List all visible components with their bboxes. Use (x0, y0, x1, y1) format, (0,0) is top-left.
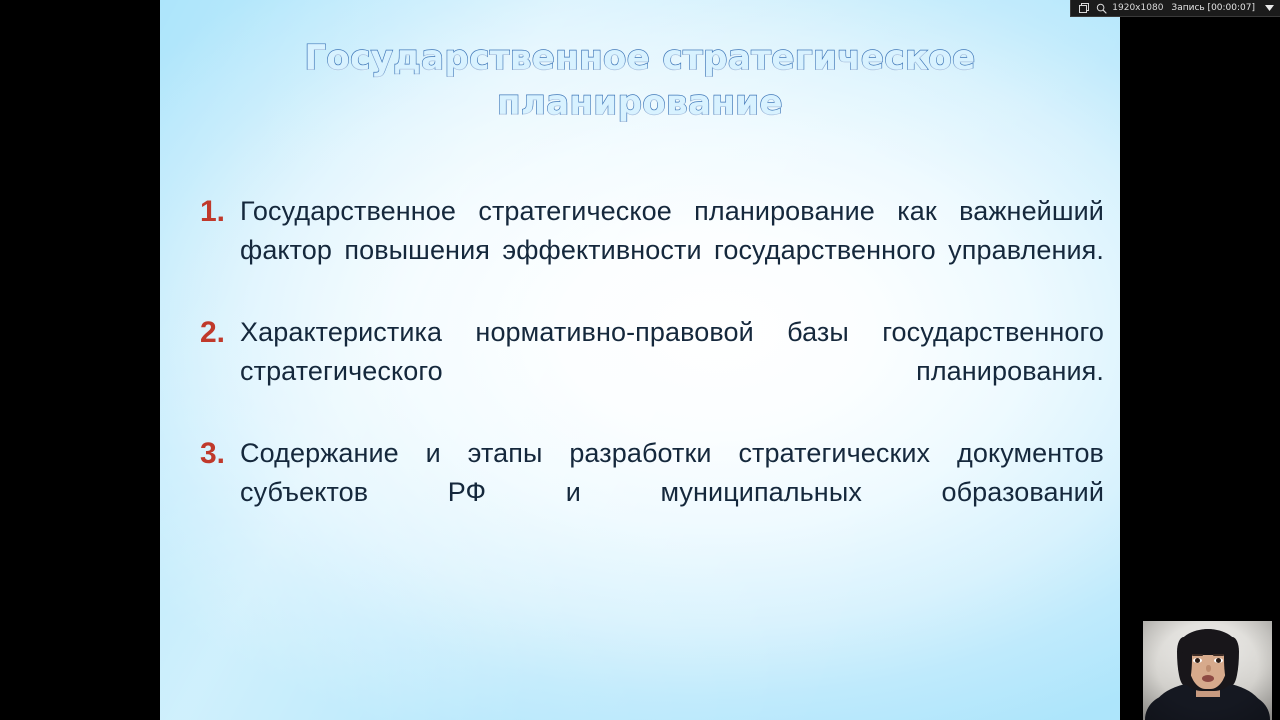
recording-status-label: Запись [00:00:07] (1169, 3, 1263, 13)
magnifier-icon[interactable] (1093, 1, 1110, 16)
presenter-eye-left (1193, 658, 1202, 663)
list-item: 2. Характеристика нормативно-правовой ба… (196, 313, 1104, 430)
list-item-text: Содержание и этапы разработки стратегиче… (240, 434, 1104, 551)
list-item: 3. Содержание и этапы разработки стратег… (196, 434, 1104, 551)
webcam-video-frame (1143, 621, 1272, 720)
screen-share-viewport: Государственное стратегическое планирова… (0, 0, 1280, 720)
list-item-text: Характеристика нормативно-правовой базы … (240, 313, 1104, 430)
restore-window-icon[interactable] (1076, 1, 1093, 16)
presenter-webcam-pip[interactable] (1135, 615, 1280, 720)
presenter-nose (1206, 665, 1211, 672)
presenter-mouth (1202, 675, 1214, 682)
presenter-pupil-left (1195, 658, 1200, 663)
slide-content: Государственное стратегическое планирова… (160, 0, 1120, 720)
presentation-slide: Государственное стратегическое планирова… (160, 0, 1120, 720)
capture-resolution-label: 1920x1080 (1110, 3, 1169, 13)
list-item: 1. Государственное стратегическое планир… (196, 192, 1104, 309)
list-item-number: 3. (196, 434, 240, 473)
list-item-number: 2. (196, 313, 240, 352)
presenter-eyebrow-right (1213, 654, 1224, 656)
presenter-hair-fringe (1178, 629, 1238, 655)
list-item-text: Государственное стратегическое планирова… (240, 192, 1104, 309)
capture-toolbar[interactable]: 1920x1080 Запись [00:00:07] (1070, 0, 1280, 17)
presenter-eyebrow-left (1192, 654, 1203, 656)
slide-numbered-list: 1. Государственное стратегическое планир… (196, 192, 1104, 555)
slide-title: Государственное стратегическое планирова… (220, 36, 1060, 126)
presenter-eye-right (1214, 658, 1223, 663)
list-item-number: 1. (196, 192, 240, 231)
presenter-pupil-right (1216, 658, 1221, 663)
chevron-down-icon[interactable] (1263, 1, 1276, 16)
